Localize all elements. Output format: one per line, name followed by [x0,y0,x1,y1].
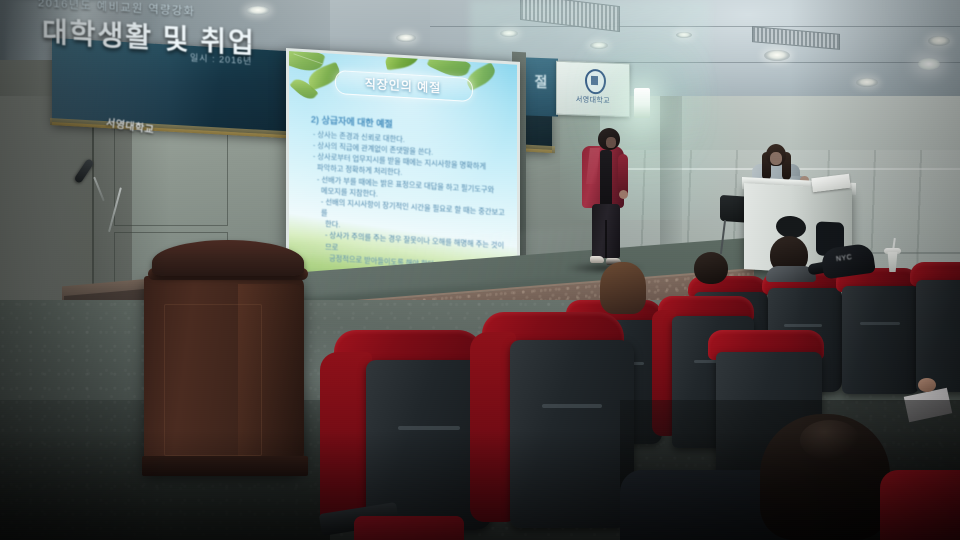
photo-grain [0,0,960,540]
lecture-hall-photo: 2016년도 예비교원 역량강화 대학생활 및 취업 일시 : 2016년 절 … [0,0,960,540]
